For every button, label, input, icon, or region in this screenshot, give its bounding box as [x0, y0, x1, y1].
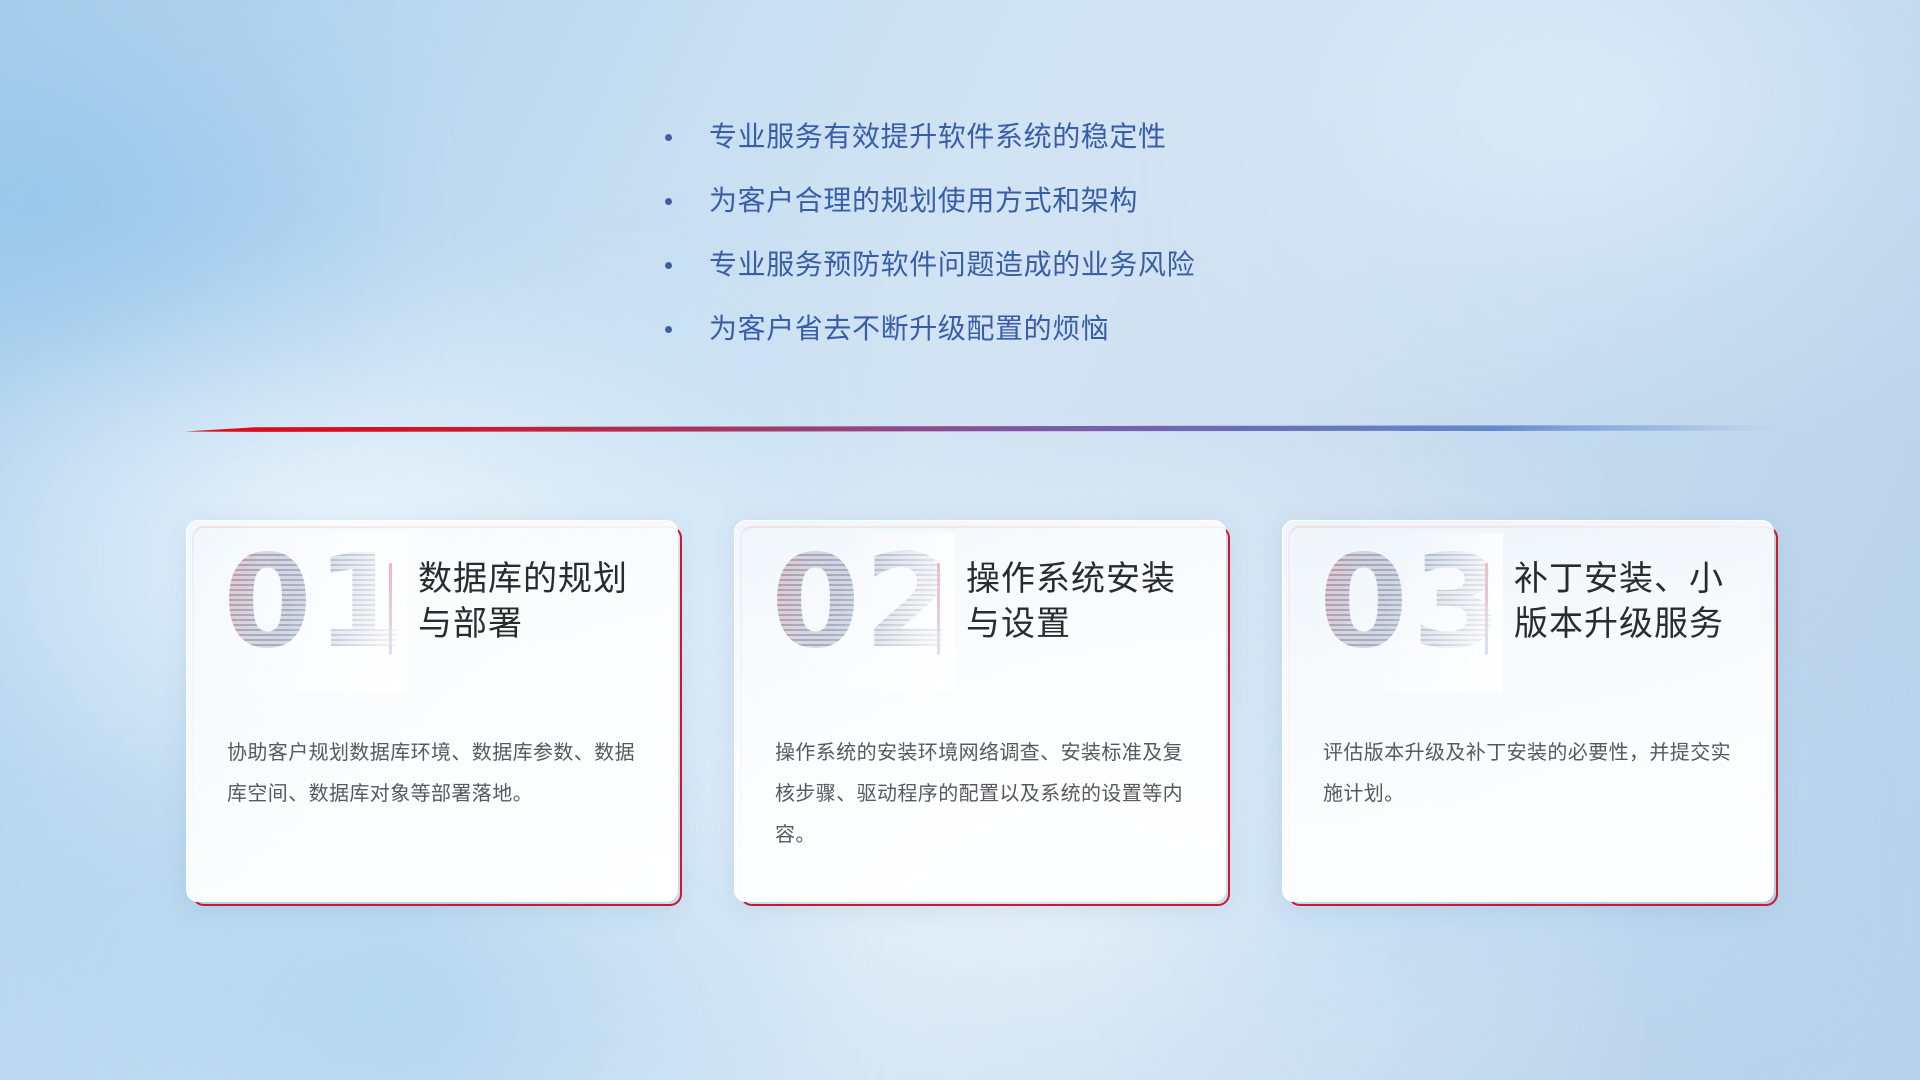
- card-title: 数据库的规划与部署: [418, 549, 641, 647]
- bullet-dot-icon: [665, 262, 683, 269]
- card-header: 02 操作系统安装与设置: [771, 549, 1189, 699]
- bullet-text: 为客户合理的规划使用方式和架构: [709, 184, 1138, 218]
- list-item: 为客户合理的规划使用方式和架构: [665, 169, 1425, 233]
- bullet-dot-icon: [665, 134, 683, 141]
- benefits-bullet-list: 专业服务有效提升软件系统的稳定性 为客户合理的规划使用方式和架构 专业服务预防软…: [665, 105, 1425, 361]
- card-number-text: 02: [771, 539, 957, 667]
- card-number-watermark: 02: [771, 553, 937, 685]
- bullet-text: 专业服务有效提升软件系统的稳定性: [709, 120, 1167, 154]
- card-number-watermark: 03: [1319, 553, 1485, 685]
- list-item: 专业服务预防软件问题造成的业务风险: [665, 233, 1425, 297]
- card-number-text: 01: [223, 539, 409, 667]
- card-title: 补丁安装、小版本升级服务: [1514, 549, 1737, 647]
- card-panel: 01 数据库的规划与部署 协助客户规划数据库环境、数据库参数、数据库空间、数据库…: [186, 520, 678, 902]
- list-item: 专业服务有效提升软件系统的稳定性: [665, 105, 1425, 169]
- card-description: 操作系统的安装环境网络调查、安装标准及复核步骤、驱动程序的配置以及系统的设置等内…: [771, 733, 1189, 856]
- bullet-text: 为客户省去不断升级配置的烦恼: [709, 312, 1109, 346]
- bullet-text: 专业服务预防软件问题造成的业务风险: [709, 248, 1195, 282]
- card-header: 03 补丁安装、小版本升级服务: [1319, 549, 1737, 699]
- service-card[interactable]: 01 数据库的规划与部署 协助客户规划数据库环境、数据库参数、数据库空间、数据库…: [186, 520, 678, 902]
- card-description: 评估版本升级及补丁安装的必要性，并提交实施计划。: [1319, 733, 1737, 815]
- background-glow-upper-left: [0, 22, 384, 389]
- card-title: 操作系统安装与设置: [966, 549, 1189, 647]
- bullet-dot-icon: [665, 198, 683, 205]
- card-number-watermark: 01: [223, 553, 389, 685]
- service-card[interactable]: 03 补丁安装、小版本升级服务 评估版本升级及补丁安装的必要性，并提交实施计划。: [1282, 520, 1774, 902]
- card-panel: 03 补丁安装、小版本升级服务 评估版本升级及补丁安装的必要性，并提交实施计划。: [1282, 520, 1774, 902]
- service-card[interactable]: 02 操作系统安装与设置 操作系统的安装环境网络调查、安装标准及复核步骤、驱动程…: [734, 520, 1226, 902]
- card-number-text: 03: [1319, 539, 1505, 667]
- service-card-grid: 01 数据库的规划与部署 协助客户规划数据库环境、数据库参数、数据库空间、数据库…: [186, 520, 1774, 902]
- list-item: 为客户省去不断升级配置的烦恼: [665, 297, 1425, 361]
- card-description: 协助客户规划数据库环境、数据库参数、数据库空间、数据库对象等部署落地。: [223, 733, 641, 815]
- card-header: 01 数据库的规划与部署: [223, 549, 641, 699]
- bullet-dot-icon: [665, 326, 683, 333]
- card-panel: 02 操作系统安装与设置 操作系统的安装环境网络调查、安装标准及复核步骤、驱动程…: [734, 520, 1226, 902]
